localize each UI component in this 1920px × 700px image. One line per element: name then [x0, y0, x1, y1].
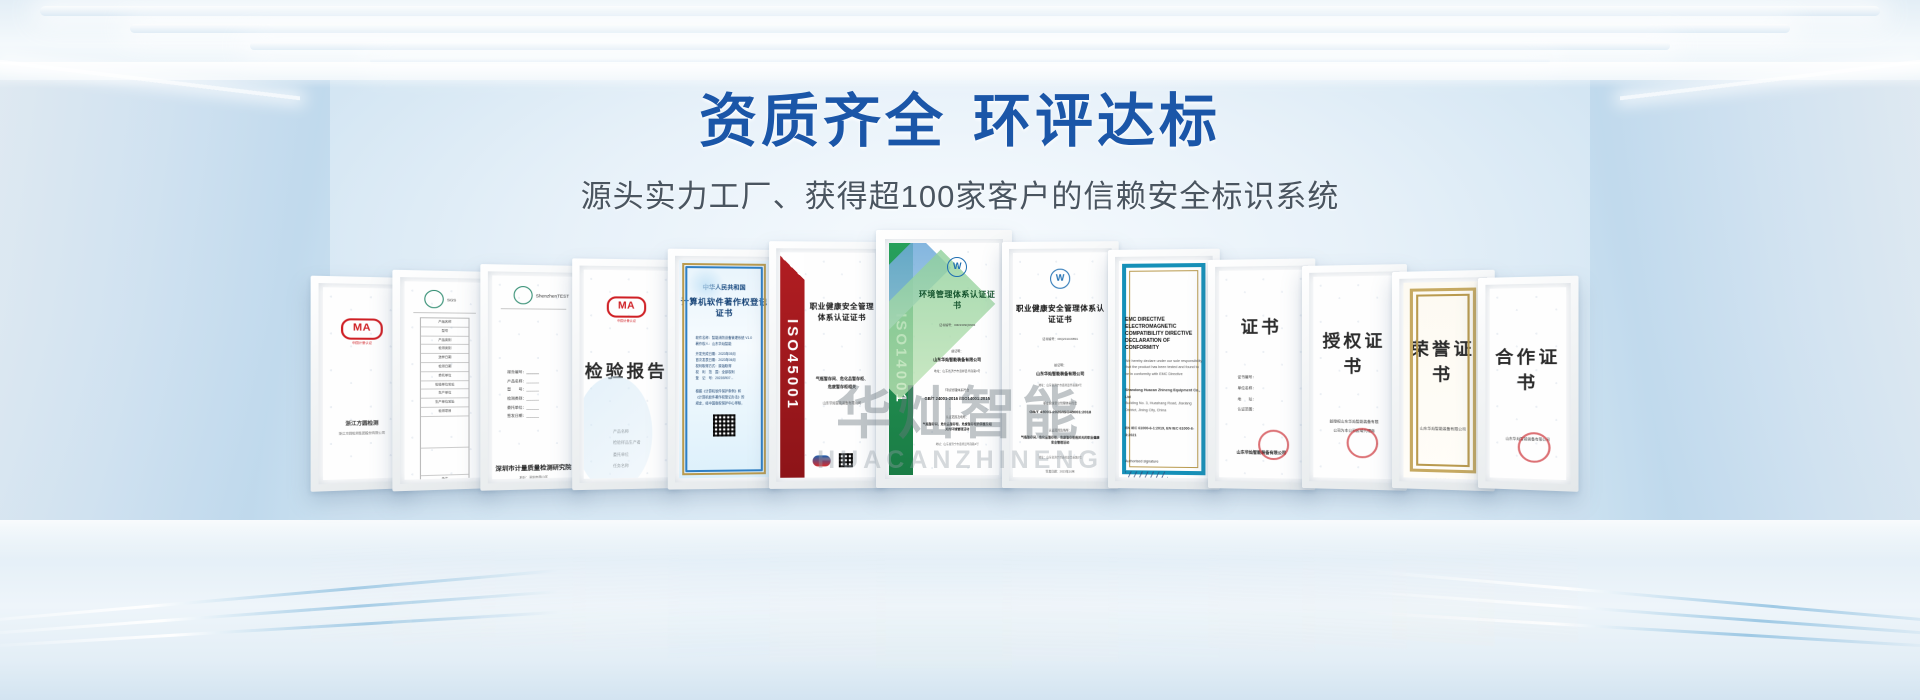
emc-address: Building No. 3, Huashang Road, Jiaxiang …	[1119, 400, 1208, 414]
red-stamp	[1258, 430, 1289, 461]
floor-gloss	[0, 520, 1920, 560]
certificate-frame[interactable]: ISO45001 职业健康安全管理体系认证证书 气瓶暂存间、危化品暂存柜、危废暂…	[769, 241, 886, 489]
certificate-frame[interactable]: W 职业健康安全管理体系认证证书 证书编号：00Q2310J0891 兹证明： …	[1002, 241, 1119, 489]
certificate-frame[interactable]: 合作证书 山东华灿智能装备有限公司 有限公司	[1478, 276, 1579, 492]
certificate-wall: MA 中国计量认证 浙江方圆检测 浙江方圆检测集团股份有限公司 SGS 产品名称…	[0, 228, 1920, 488]
cert-title: 环境管理体系认证证书	[915, 289, 999, 311]
red-stamp	[1347, 428, 1379, 459]
iso45001-spine: ISO45001	[780, 252, 805, 477]
cert-footer: 颁发单位	[1404, 477, 1483, 480]
headline: 资质齐全环评达标	[0, 92, 1920, 153]
cert-standard: GB/T 24001-2016 /ISO14001:2015	[915, 396, 999, 401]
ceiling-light-cove	[130, 24, 1790, 33]
certification-logo-icon: W	[947, 257, 967, 277]
emc-company: Shandong Huacan Zhineng Equipment Co., L…	[1119, 387, 1208, 400]
cert-holder: 山东华灿智能装备有限公司	[915, 357, 999, 363]
red-stamp	[1518, 432, 1551, 463]
headline-part1: 资质齐全	[699, 89, 947, 154]
emc-line-3: DECLARATION OF CONFORMITY	[1119, 338, 1208, 352]
certificate-frame[interactable]: MA 中国计量认证 检验报告 产品名称 检验样品生产者 委托单位 任务名称	[572, 258, 680, 490]
certificate-frame[interactable]: EMC DIRECTIVE ELECTROMAGNETIC COMPATIBIL…	[1108, 249, 1220, 490]
emc-annex: EN IEC 61000-6-1:2019, EN IEC 61000-6-3:…	[1119, 425, 1208, 439]
signature	[1125, 471, 1168, 478]
iso45001-label: ISO45001	[784, 319, 801, 411]
headline-block: 资质齐全环评达标 源头实力工厂、获得超100家客户的信赖安全标识系统	[0, 92, 1920, 216]
emc-line-2: ELECTROMAGNETIC COMPATIBILITY DIRECTIVE	[1119, 324, 1208, 338]
ceiling-light-cove	[40, 6, 1880, 16]
headline-part2: 环评达标	[973, 89, 1221, 154]
certificate-frame[interactable]: ShenzhenTEST 报告编号：______ 产品名称：______ 型 号…	[480, 264, 586, 491]
certificate-frame[interactable]: 证书 证书编号： 单位名称： 地 址： 认证范围： 山东华灿智能装备有限公司	[1208, 258, 1315, 490]
emc-sub: We hereby declare under our sole respons…	[1119, 358, 1208, 378]
certificate-frame[interactable]: 中华人民共和国 计算机软件著作权登记证书 软件名称：智能消防设备管理系统 V1.…	[668, 249, 780, 490]
subheadline: 源头实力工厂、获得超100家客户的信赖安全标识系统	[0, 171, 1920, 216]
certificate-banner: 资质齐全环评达标 源头实力工厂、获得超100家客户的信赖安全标识系统 MA 中国…	[0, 0, 1920, 700]
ceiling-edge	[0, 62, 1920, 88]
qr-code	[839, 453, 853, 467]
certificate-frame[interactable]: ISO14001 W 环境管理体系认证证书 证书编号：00R2309Q0993 …	[876, 230, 1012, 488]
cert-scope: 气瓶暂存间、危化品暂存柜、危废暂存柜的销售及相关的环境管理活动	[915, 422, 999, 433]
ceiling-light-cove	[250, 42, 1670, 50]
